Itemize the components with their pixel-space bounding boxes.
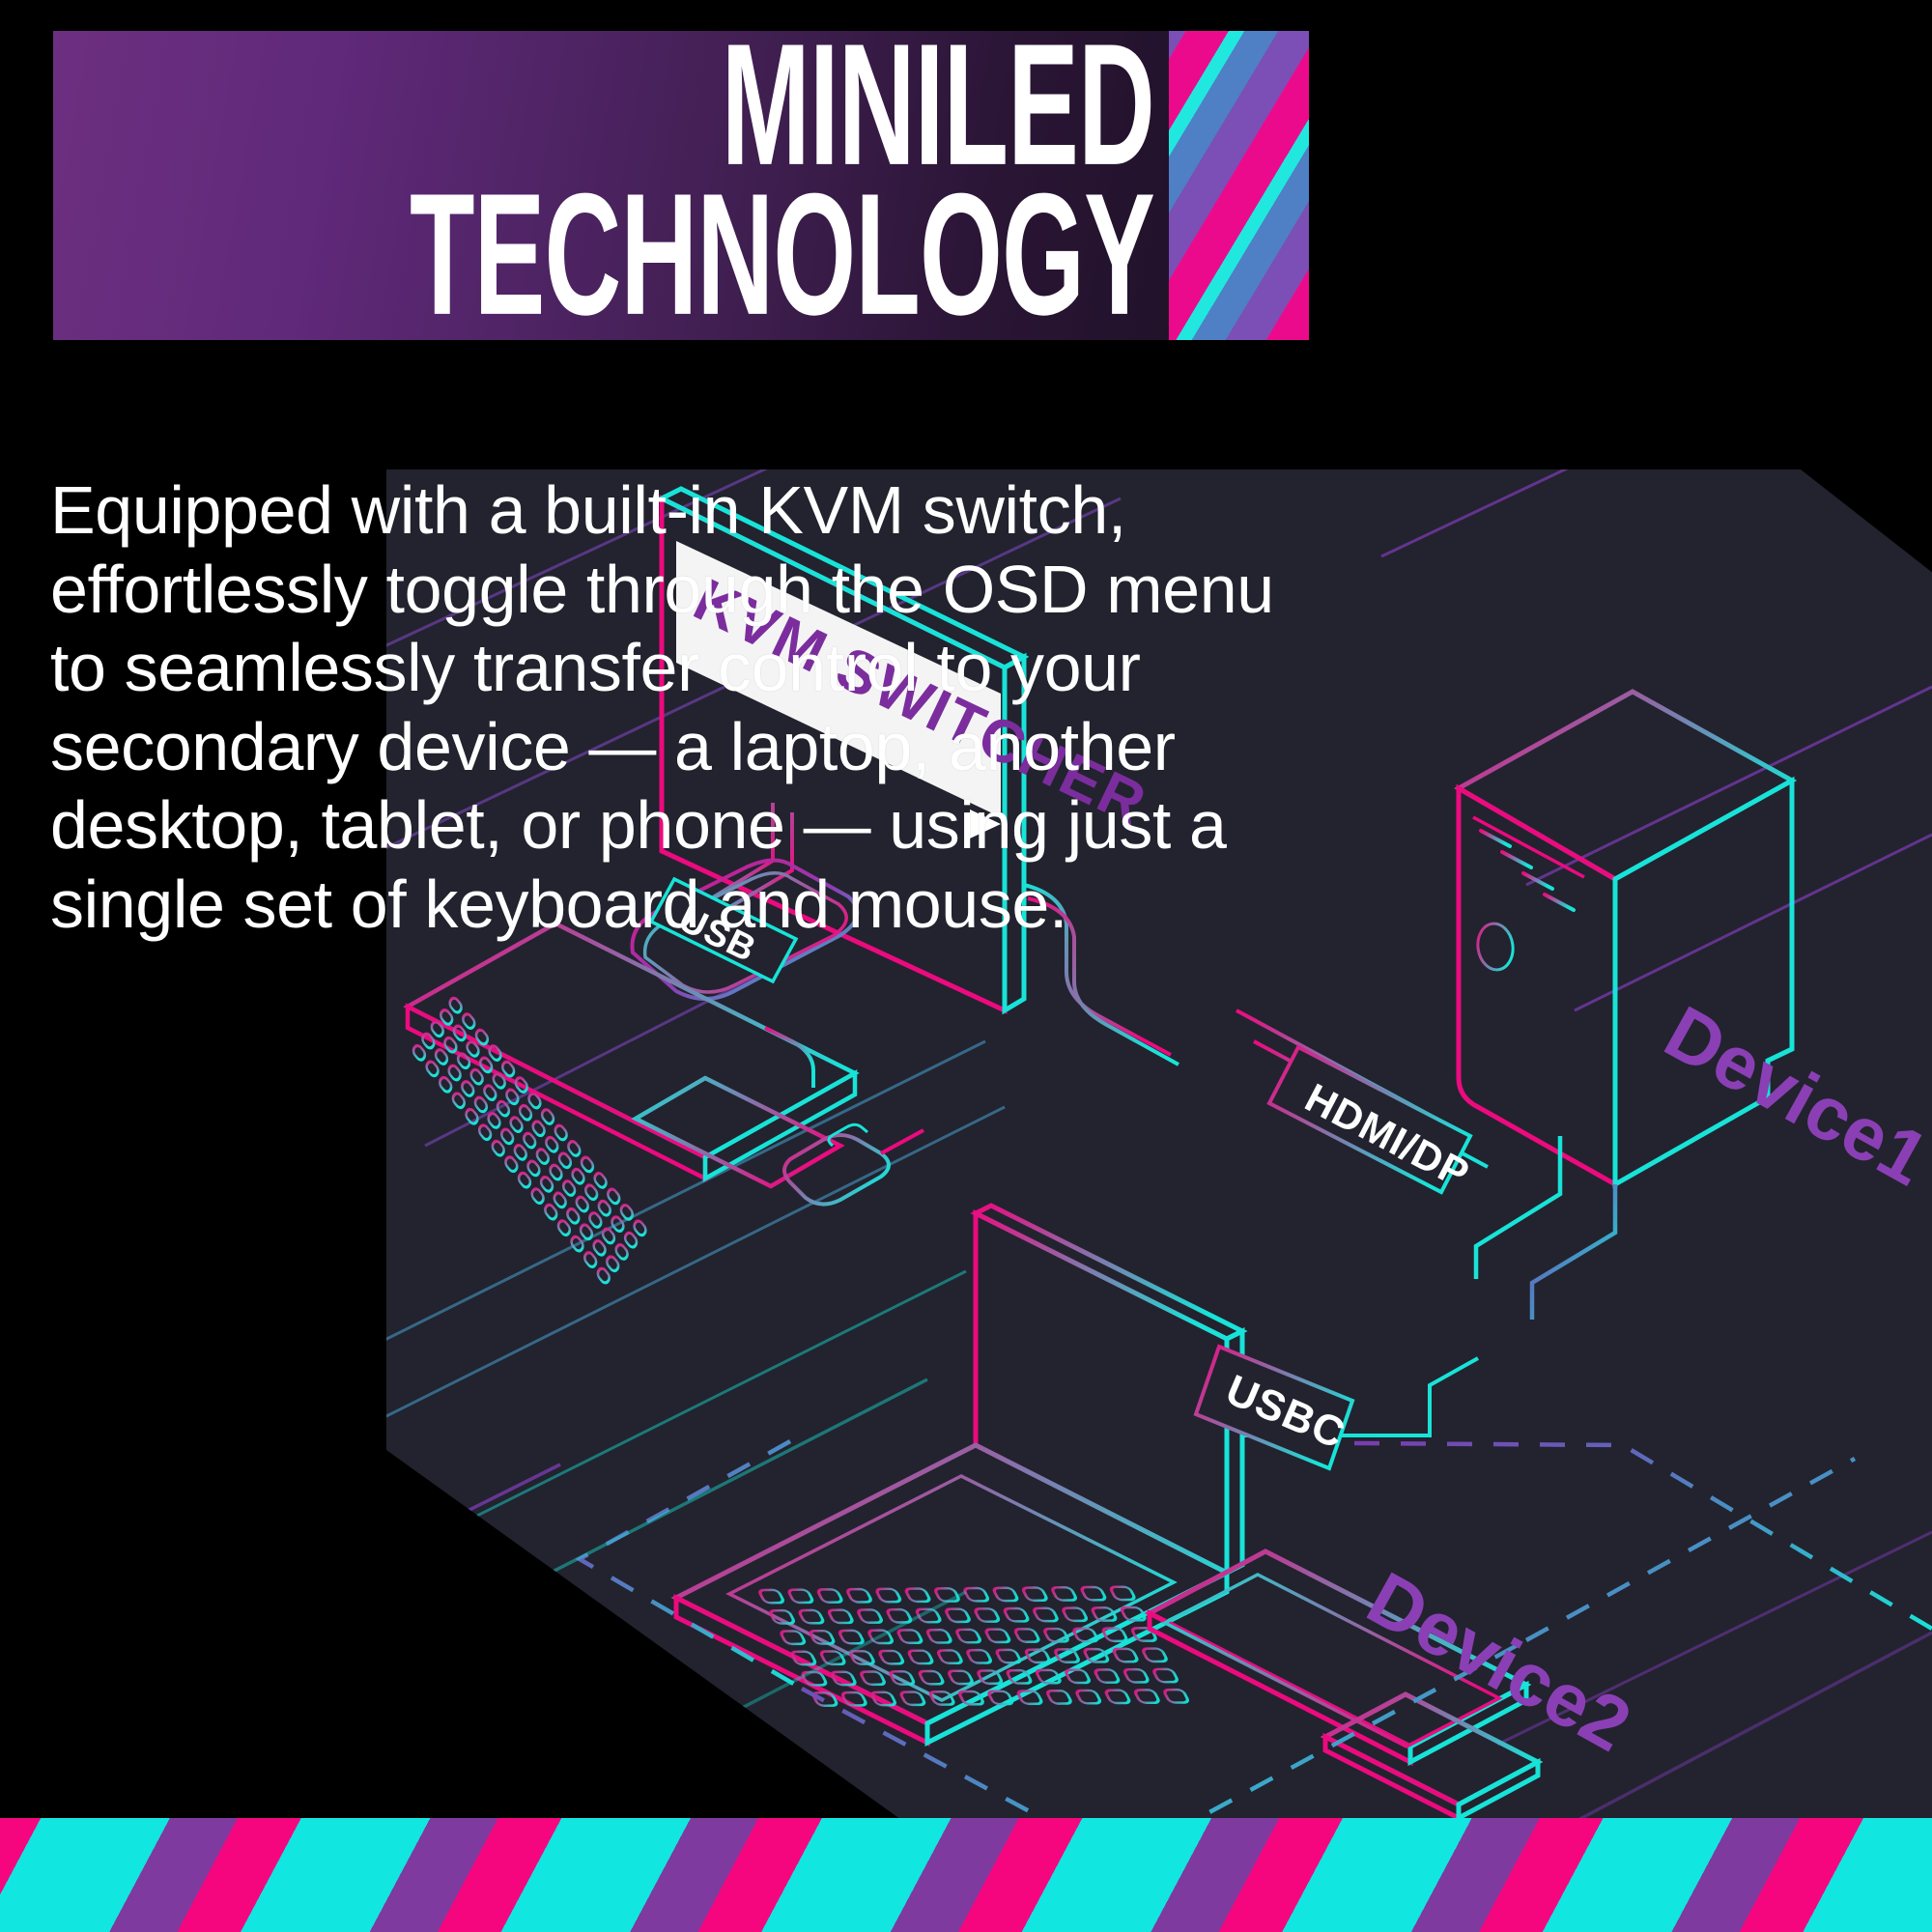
header-banner: MINILED TECHNOLOGY [53,31,1309,340]
footer-stripe-bar [0,1818,1932,1932]
page-title: MINILED TECHNOLOGY [130,31,1154,319]
laptop-keys [758,1437,1189,1822]
keyboard-numpad [636,1078,840,1186]
device1-cable [1476,1136,1615,1320]
poster-root: MINILED TECHNOLOGY [0,0,1932,1932]
device2-label: Device2 [1354,1555,1645,1768]
title-line-technology: TECHNOLOGY [335,173,1154,337]
header-stripe-panel [1169,31,1309,340]
body-paragraph: Equipped with a built-in KVM switch, eff… [50,471,1335,944]
usb-cable [765,1028,813,1088]
